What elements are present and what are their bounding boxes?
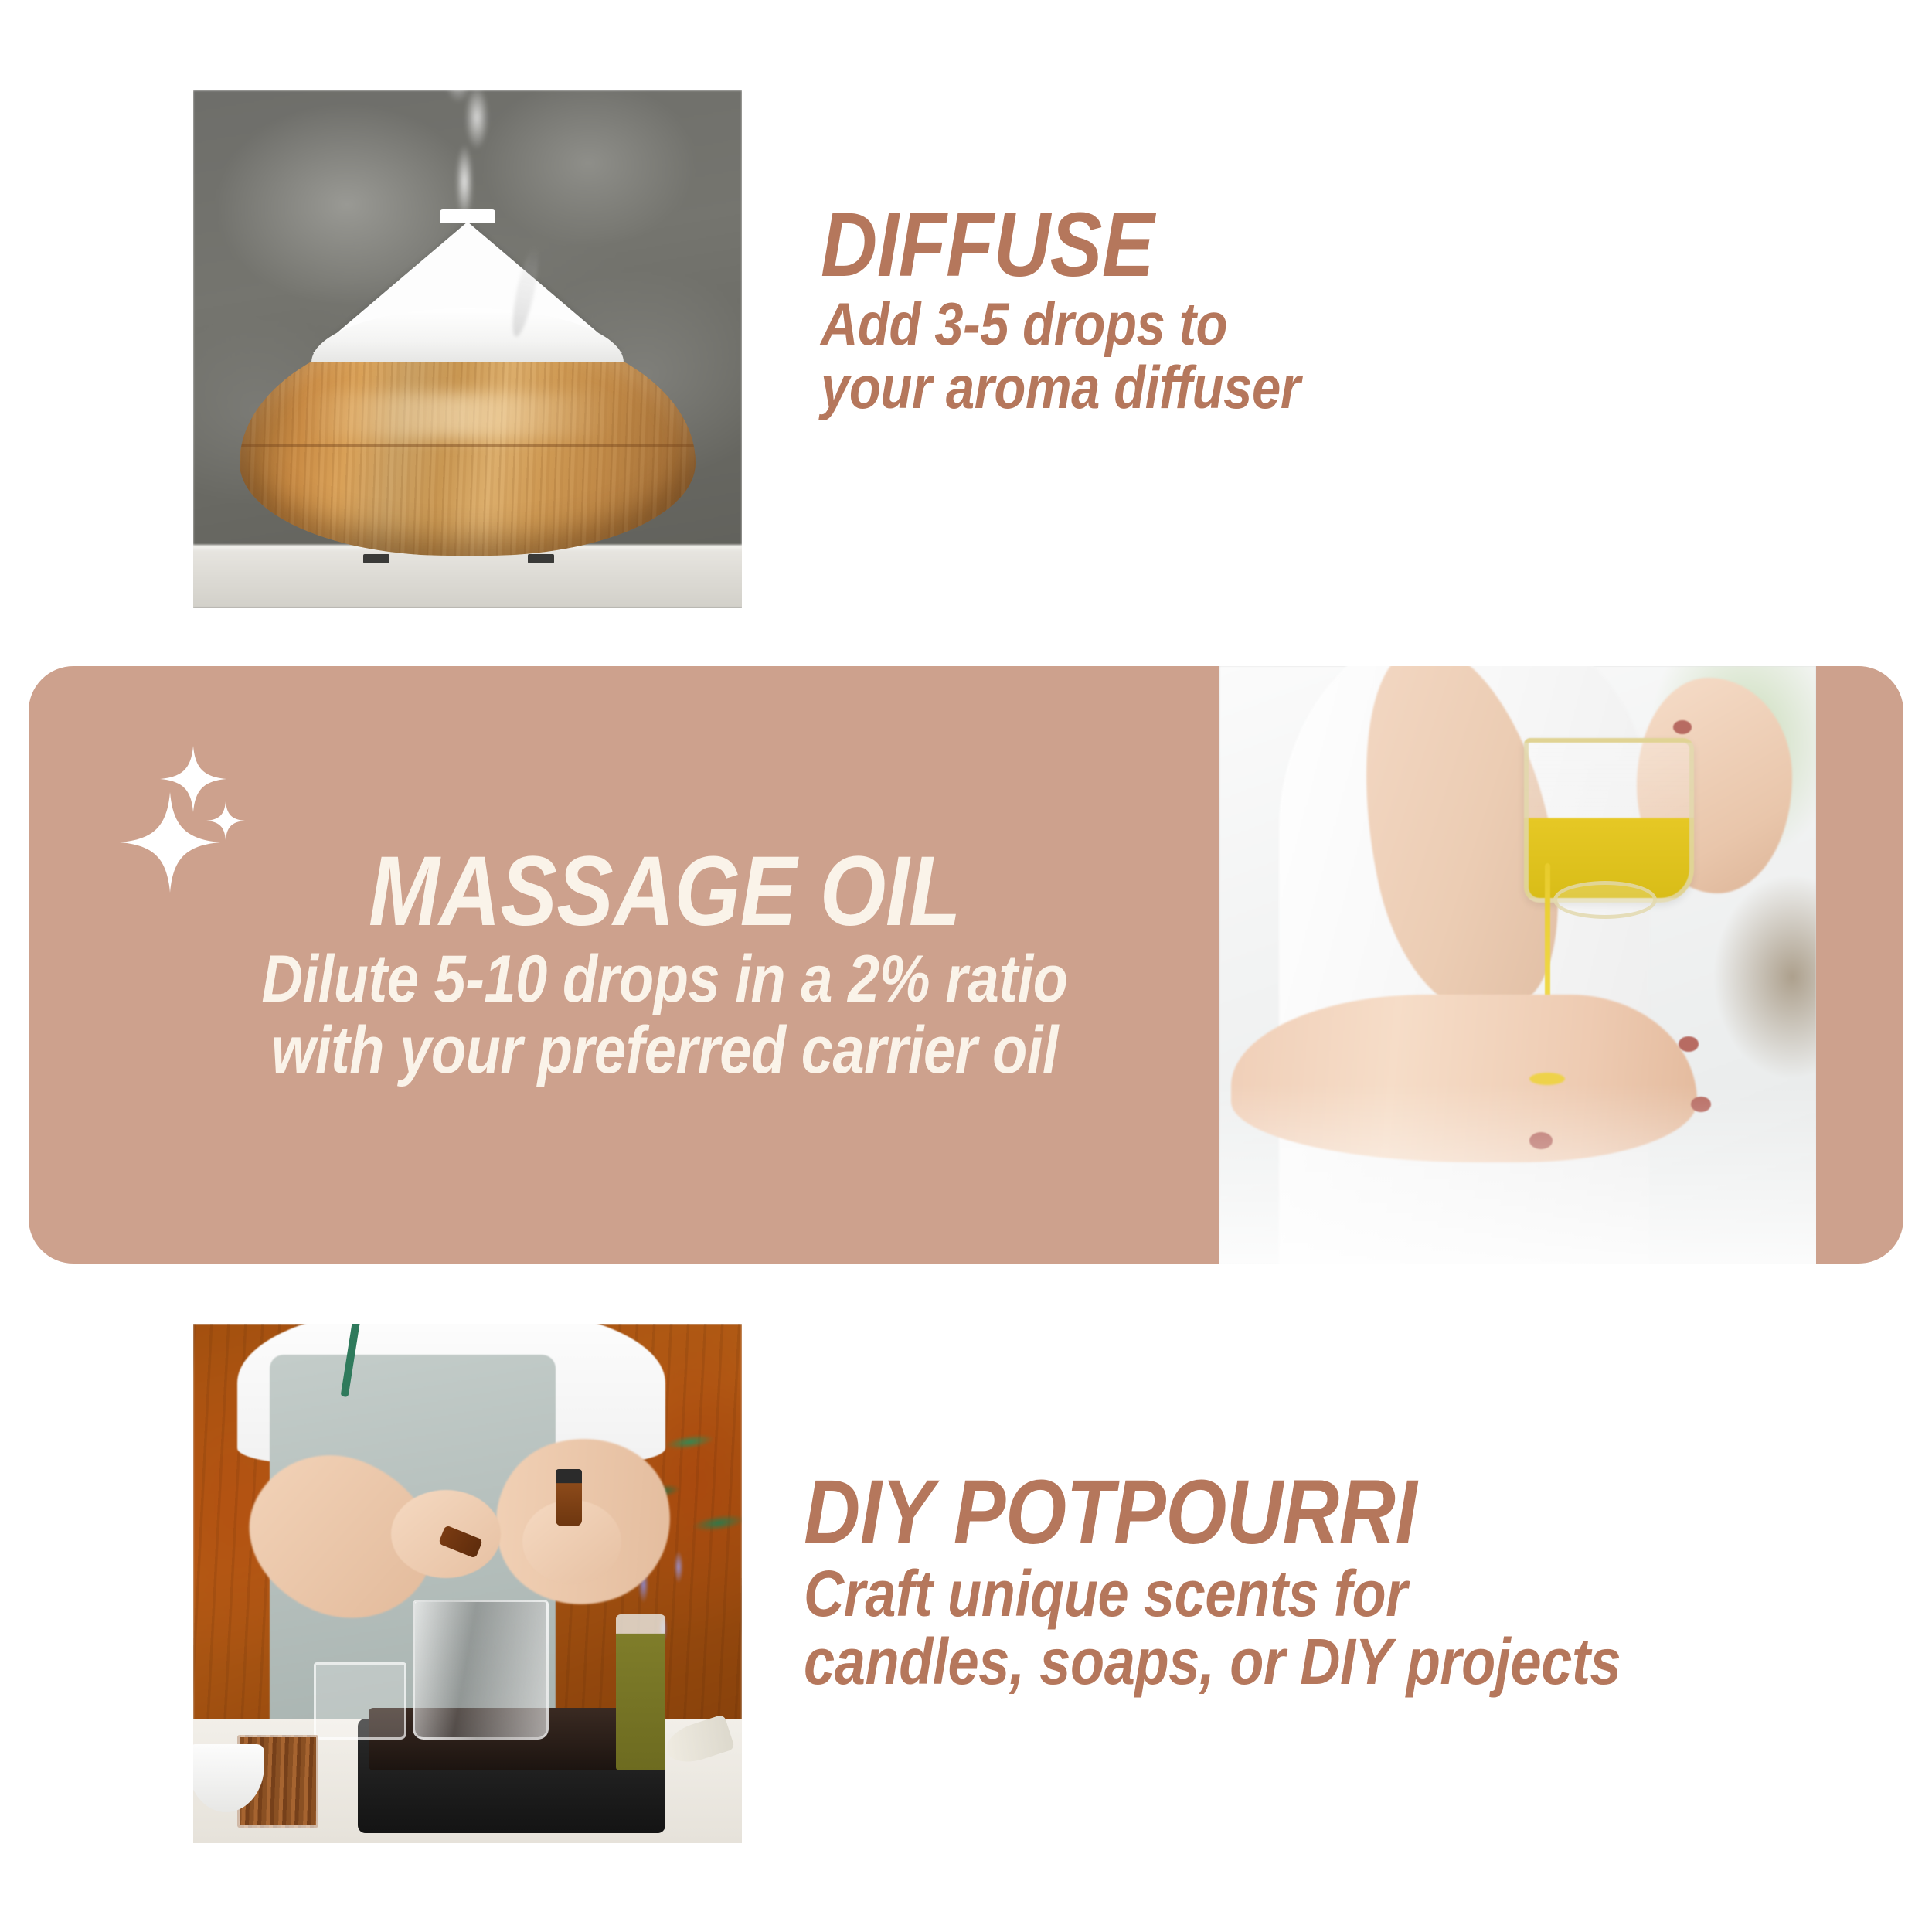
massage-oil-title: MASSAGE OIL xyxy=(199,842,1130,941)
diffuse-text-block: DIFFUSE Add 3-5 drops to your aroma diff… xyxy=(821,199,1787,417)
measuring-jug xyxy=(314,1662,406,1740)
fingernail xyxy=(1673,720,1692,734)
image-bottom-fade xyxy=(1219,1084,1816,1264)
massage-oil-image xyxy=(1219,666,1816,1264)
pitcher-foot xyxy=(1553,881,1657,919)
diffuse-title: DIFFUSE xyxy=(821,199,1651,291)
massage-oil-text-block: MASSAGE OIL Dilute 5-10 drops in a 2% ra… xyxy=(124,842,1206,1083)
diffuse-body-line-1: Add 3-5 drops to xyxy=(821,294,1651,354)
oil-pool-in-palm xyxy=(1529,1073,1565,1085)
potpourri-body-line-1: Craft unique scents for xyxy=(804,1561,1734,1626)
diffuse-image xyxy=(193,90,742,608)
wood-highlight xyxy=(304,393,614,438)
oil-bottle xyxy=(616,1614,665,1770)
diffuse-body-line-2: your aroma diffuser xyxy=(821,357,1651,417)
potpourri-title: DIY POTPOURRI xyxy=(804,1467,1734,1558)
steam-plume xyxy=(390,90,545,222)
amber-dropper-bottle xyxy=(556,1469,582,1526)
potpourri-text-block: DIY POTPOURRI Craft unique scents for ca… xyxy=(804,1467,1886,1694)
sparkle-tiny-icon xyxy=(206,801,245,840)
diffuser-feet xyxy=(193,554,742,563)
potpourri-body-line-2: candles, soaps, or DIY projects xyxy=(804,1629,1734,1694)
massage-oil-body-line-1: Dilute 5-10 drops in a 2% ratio xyxy=(199,946,1130,1012)
massage-oil-body-line-2: with your preferred carrier oil xyxy=(199,1017,1130,1083)
diffuser-nozzle xyxy=(440,209,495,223)
melting-pot xyxy=(413,1600,549,1740)
potpourri-image xyxy=(193,1324,742,1843)
